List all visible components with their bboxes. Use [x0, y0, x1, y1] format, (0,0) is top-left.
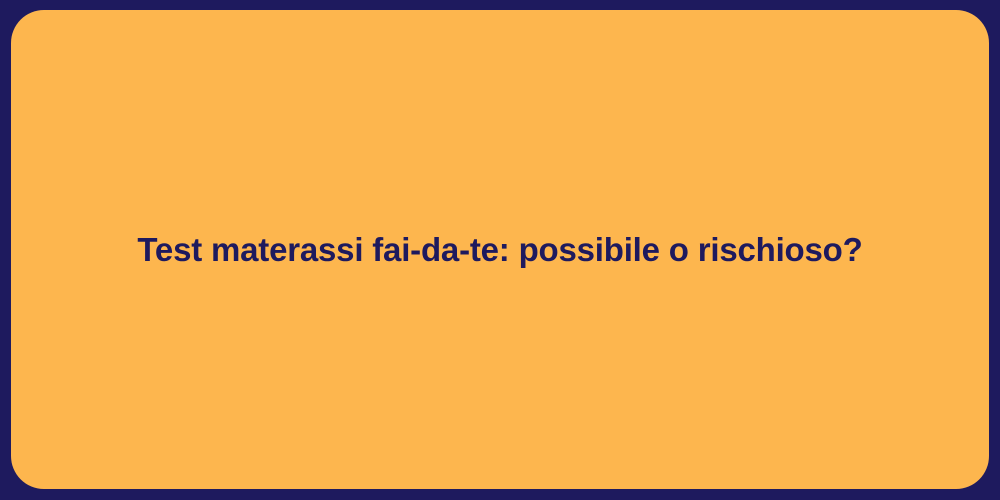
banner-root: Test materassi fai-da-te: possibile o ri… — [0, 0, 1000, 500]
banner-title: Test materassi fai-da-te: possibile o ri… — [97, 229, 902, 270]
banner-card: Test materassi fai-da-te: possibile o ri… — [11, 10, 989, 489]
